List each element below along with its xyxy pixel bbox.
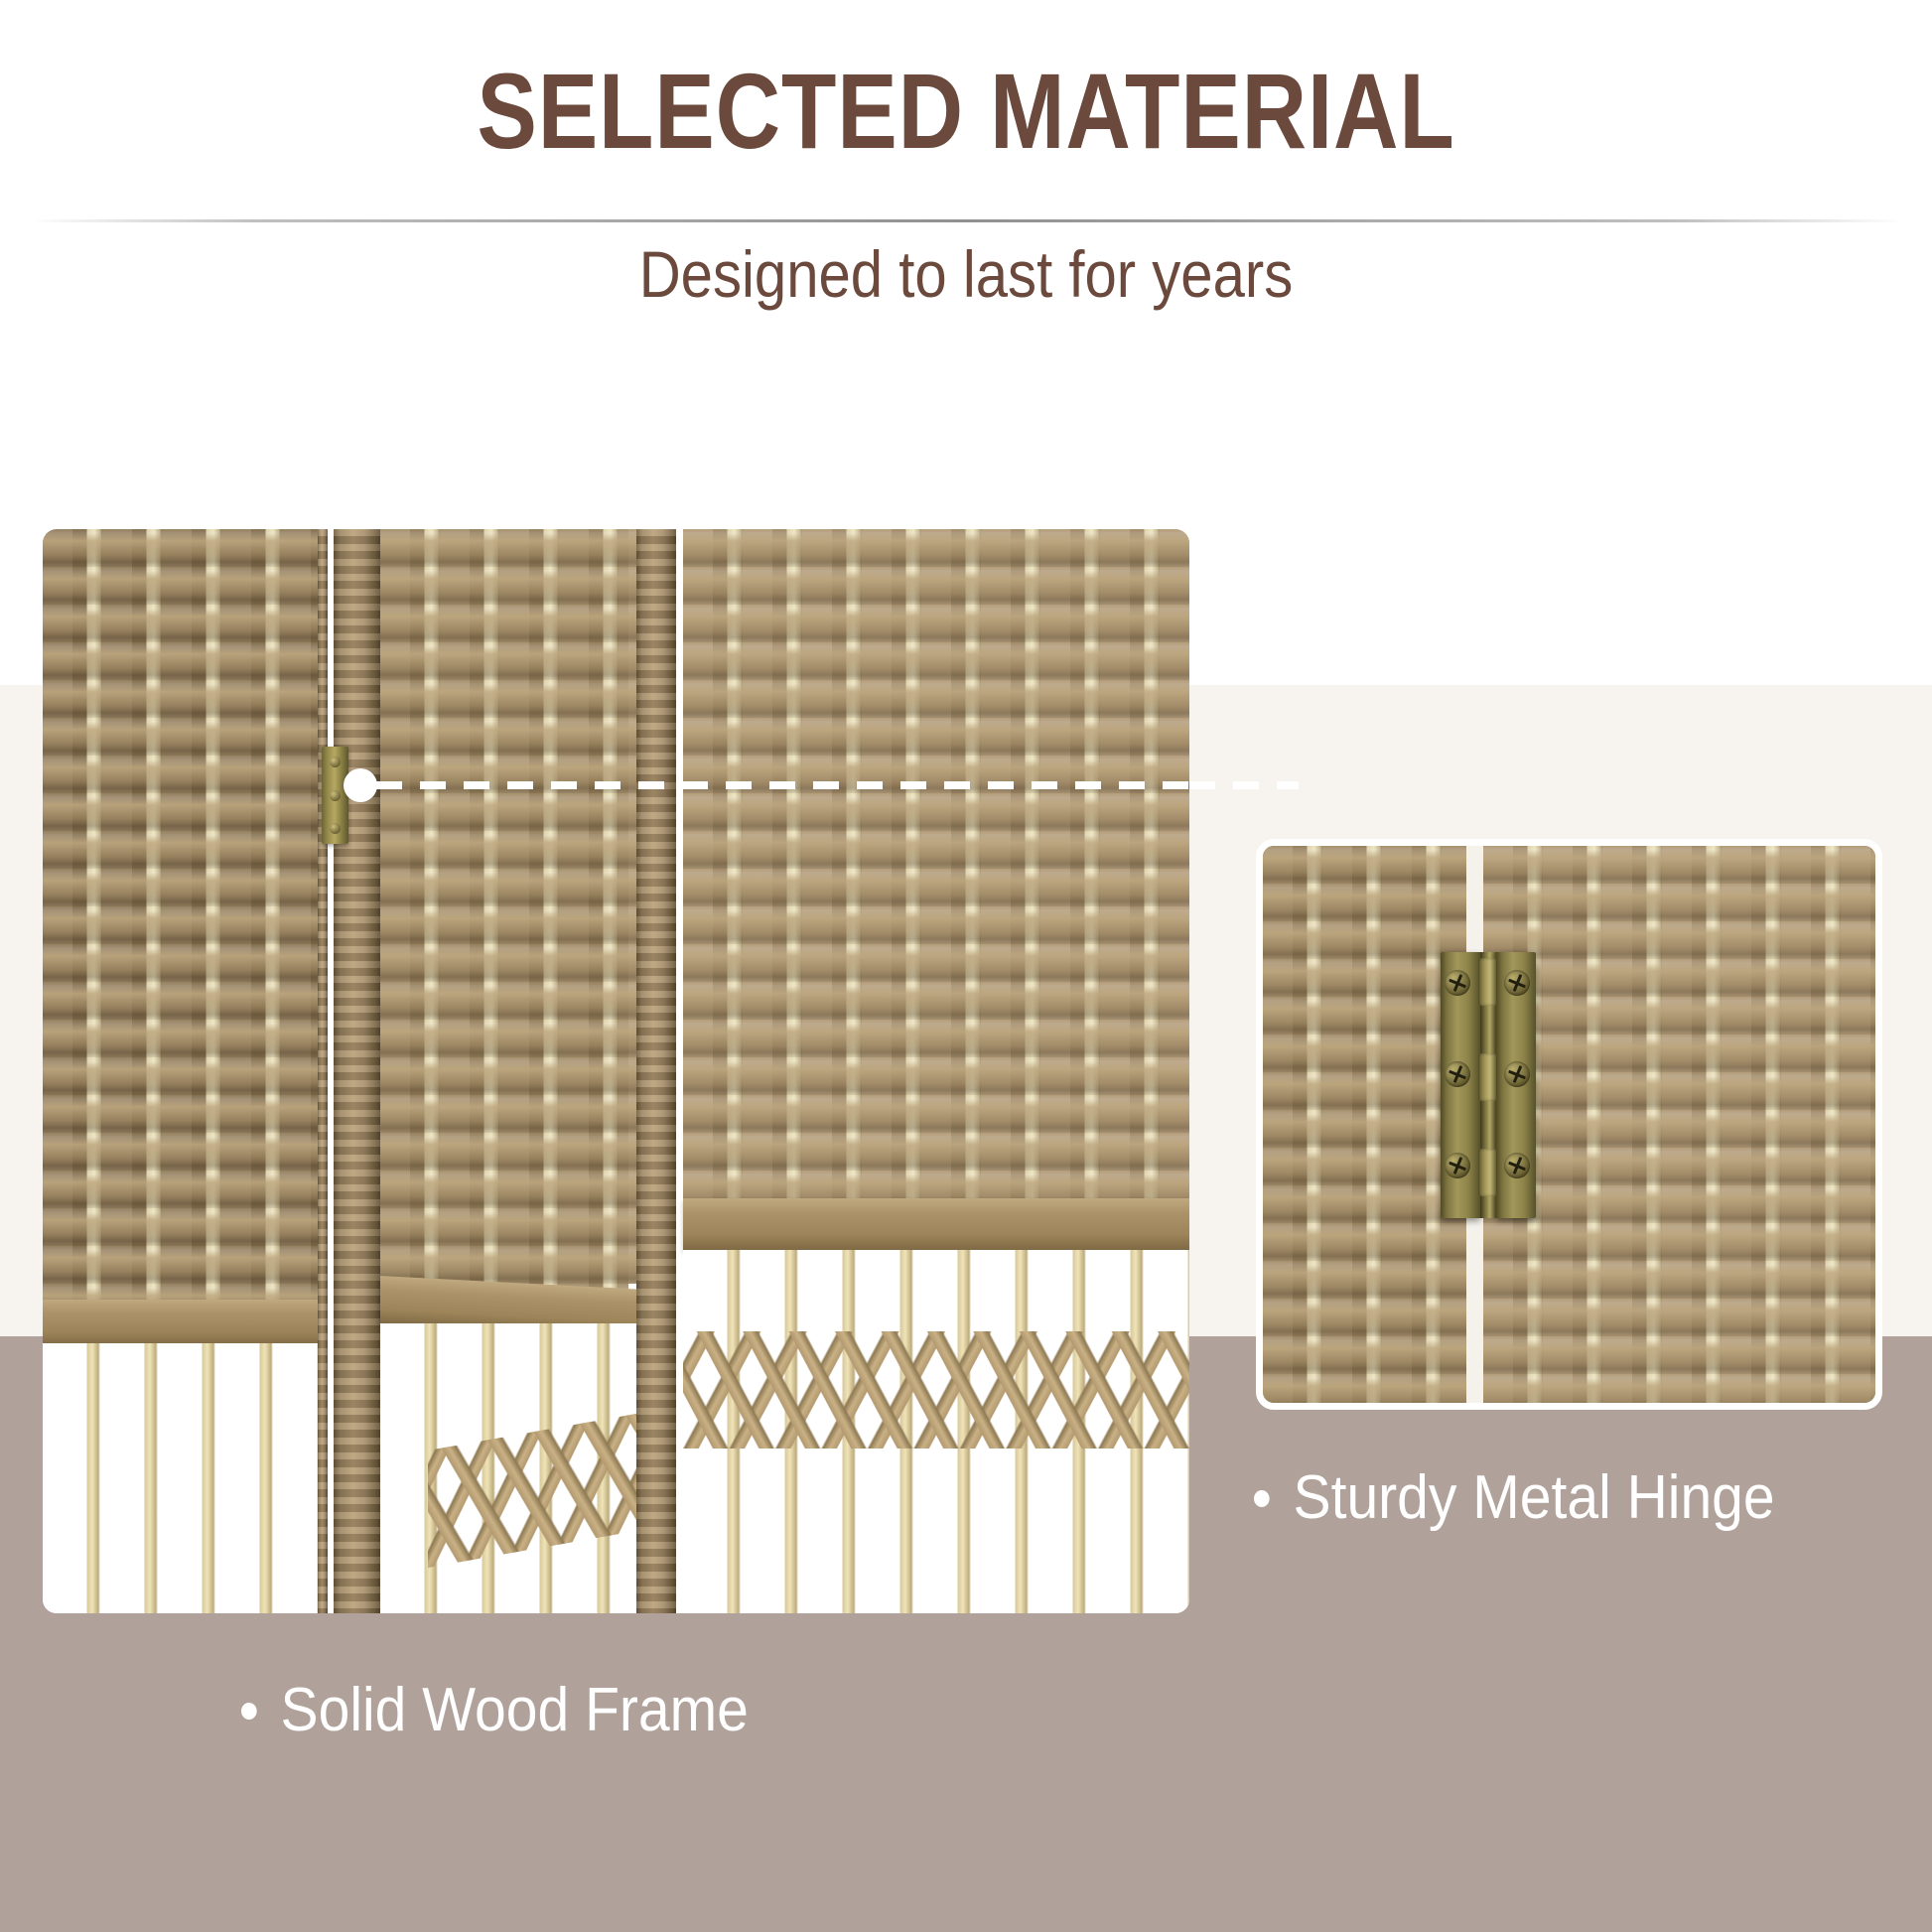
hinge-screw — [330, 757, 341, 767]
page-subtitle: Designed to last for years — [116, 241, 1816, 307]
bullet-icon — [241, 1703, 257, 1720]
hinge-knuckle — [1478, 1053, 1498, 1101]
caption-sturdy-metal-hinge: Sturdy Metal Hinge — [1254, 1467, 1775, 1529]
header-divider — [30, 219, 1902, 222]
hinge-screw — [1445, 1153, 1470, 1178]
infographic-canvas: SELECTED MATERIAL Designed to last for y… — [0, 0, 1932, 1932]
hinge-screw — [1445, 970, 1470, 996]
frame-post-center-right — [636, 529, 676, 1613]
inset-weave-right — [1483, 846, 1880, 1403]
hinge-screw — [1504, 1061, 1530, 1087]
callout-leader-line-outer — [1189, 781, 1299, 789]
panel-right-bottom-rail — [683, 1198, 1189, 1250]
panel-seam-right — [676, 529, 683, 1613]
main-product-image — [43, 529, 1189, 1613]
caption-solid-wood-frame: Solid Wood Frame — [241, 1680, 749, 1741]
inset-weave-left — [1263, 846, 1466, 1403]
hinge-screw — [1504, 1153, 1530, 1178]
panel-left-rods — [43, 1343, 326, 1613]
hinge-screw — [330, 823, 341, 834]
panel-middle-weave — [380, 529, 628, 1294]
panel-left-weave — [43, 529, 321, 1313]
frame-post-left — [318, 529, 328, 1613]
hinge-on-divider — [322, 747, 348, 844]
panel-left-bottom-rail — [43, 1300, 326, 1345]
hinge-knuckle — [1478, 1149, 1498, 1196]
panel-right-lattice — [683, 1331, 1189, 1449]
hinge-detail-inset — [1256, 839, 1882, 1410]
page-title: SELECTED MATERIAL — [155, 58, 1778, 165]
caption-hinge-label: Sturdy Metal Hinge — [1294, 1467, 1775, 1529]
product-photo-canvas — [43, 529, 1189, 1613]
metal-hinge — [1441, 952, 1536, 1218]
panel-right-weave — [683, 529, 1189, 1216]
frame-post-center-left — [334, 529, 380, 1613]
bullet-icon — [1254, 1490, 1270, 1507]
callout-marker-dot — [344, 768, 377, 802]
callout-leader-line — [376, 781, 1189, 789]
hinge-knuckle — [1478, 958, 1498, 1006]
hinge-screw — [1445, 1061, 1470, 1087]
hinge-screw — [330, 790, 341, 801]
hinge-screw — [1504, 970, 1530, 996]
caption-frame-label: Solid Wood Frame — [281, 1680, 749, 1741]
